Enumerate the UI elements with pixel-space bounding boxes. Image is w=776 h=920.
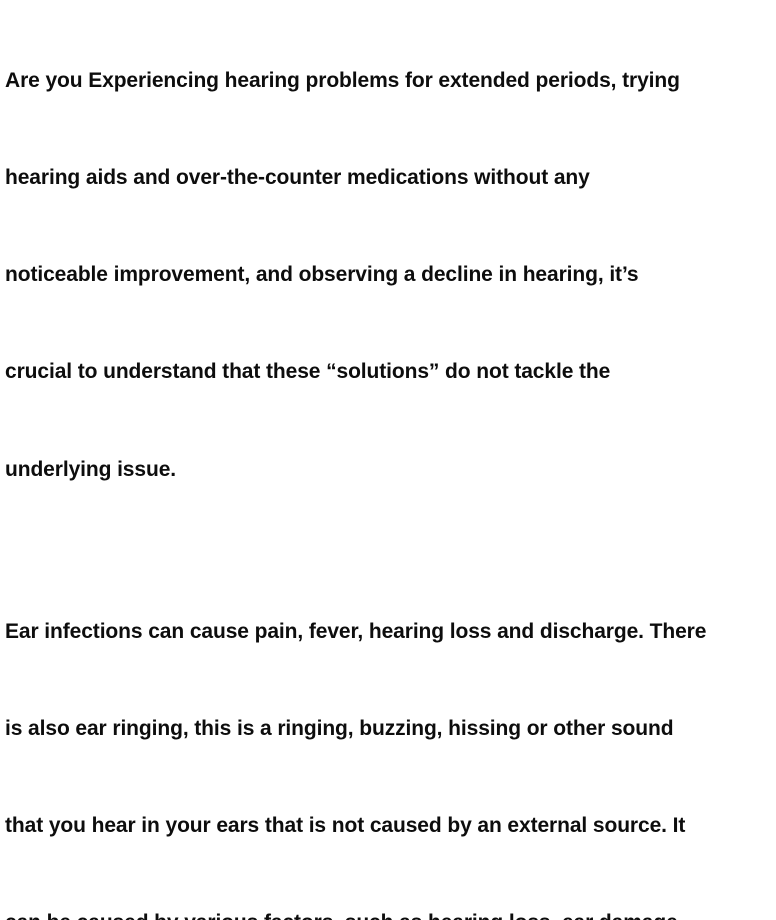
text-line: hearing aids and over-the-counter medica… bbox=[5, 162, 768, 194]
text-line: that you hear in your ears that is not c… bbox=[5, 810, 768, 842]
text-document-body: Are you Experiencing hearing problems fo… bbox=[0, 0, 776, 460]
text-line: can be caused by various factors, such a… bbox=[5, 907, 768, 920]
text-line: Ear infections can cause pain, fever, he… bbox=[5, 616, 768, 648]
text-line: Are you Experiencing hearing problems fo… bbox=[5, 65, 768, 97]
paragraph-1: Are you Experiencing hearing problems fo… bbox=[5, 0, 768, 551]
text-line: noticeable improvement, and observing a … bbox=[5, 259, 768, 291]
paragraph-2: Ear infections can cause pain, fever, he… bbox=[5, 551, 768, 920]
text-line: underlying issue. bbox=[5, 454, 768, 486]
text-line: crucial to understand that these “soluti… bbox=[5, 356, 768, 388]
text-line: is also ear ringing, this is a ringing, … bbox=[5, 713, 768, 745]
